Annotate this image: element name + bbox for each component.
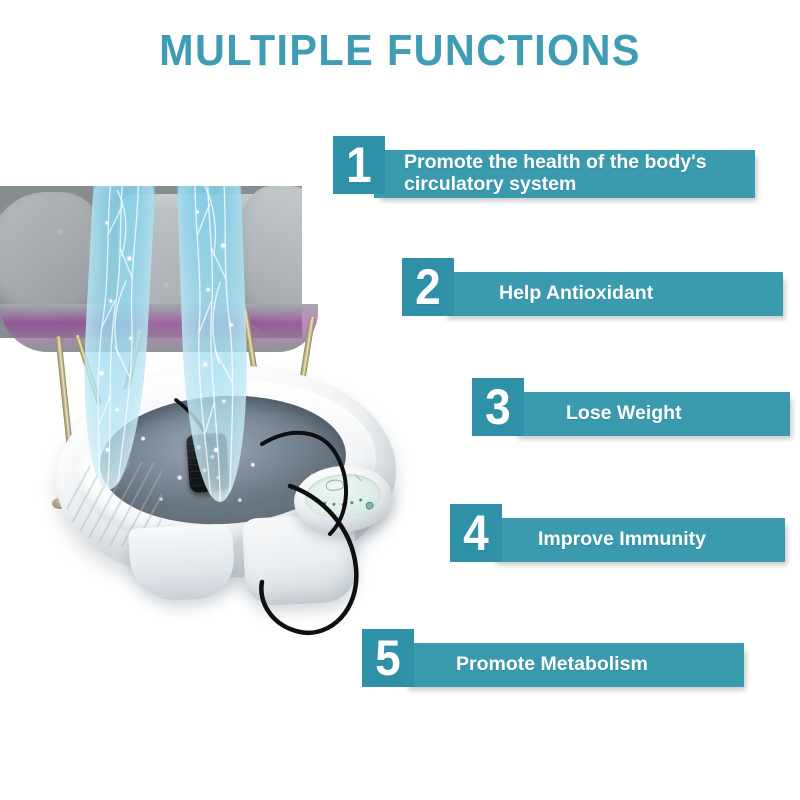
feature-banner-5[interactable]: Promote Metabolism <box>402 643 744 687</box>
feature-number-text-1: 1 <box>346 140 372 190</box>
feature-label-4: Improve Immunity <box>538 529 706 551</box>
feature-number-text-3: 3 <box>485 382 511 432</box>
feature-number-1: 1 <box>333 136 385 194</box>
feature-label-1: Promote the health of the body's circula… <box>404 152 707 196</box>
feature-label-2: Help Antioxidant <box>499 283 653 305</box>
feature-banner-4[interactable]: Improve Immunity <box>490 518 785 562</box>
product-photo-scene: · · · · <box>0 186 460 706</box>
feature-number-3: 3 <box>472 378 524 436</box>
product-photo: · · · · <box>0 186 460 706</box>
feature-banner-2[interactable]: Help Antioxidant <box>441 272 783 316</box>
page-title: MULTIPLE FUNCTIONS <box>24 26 776 76</box>
feature-number-text-5: 5 <box>375 633 401 683</box>
control-panel-face: · · · · <box>303 471 383 521</box>
feature-number-4: 4 <box>450 504 502 562</box>
feature-number-text-2: 2 <box>415 262 441 312</box>
feature-label-5: Promote Metabolism <box>456 654 648 676</box>
chair-seat-underside <box>0 304 318 352</box>
basin-front-lip <box>128 523 236 602</box>
infographic-canvas: · · · · <box>0 0 800 800</box>
feature-number-2: 2 <box>402 258 454 316</box>
feature-number-5: 5 <box>362 629 414 687</box>
feature-label-3: Lose Weight <box>566 403 682 425</box>
feature-banner-1[interactable]: Promote the health of the body's circula… <box>374 150 755 198</box>
feature-banner-3[interactable]: Lose Weight <box>512 392 790 436</box>
feature-number-text-4: 4 <box>463 508 489 558</box>
